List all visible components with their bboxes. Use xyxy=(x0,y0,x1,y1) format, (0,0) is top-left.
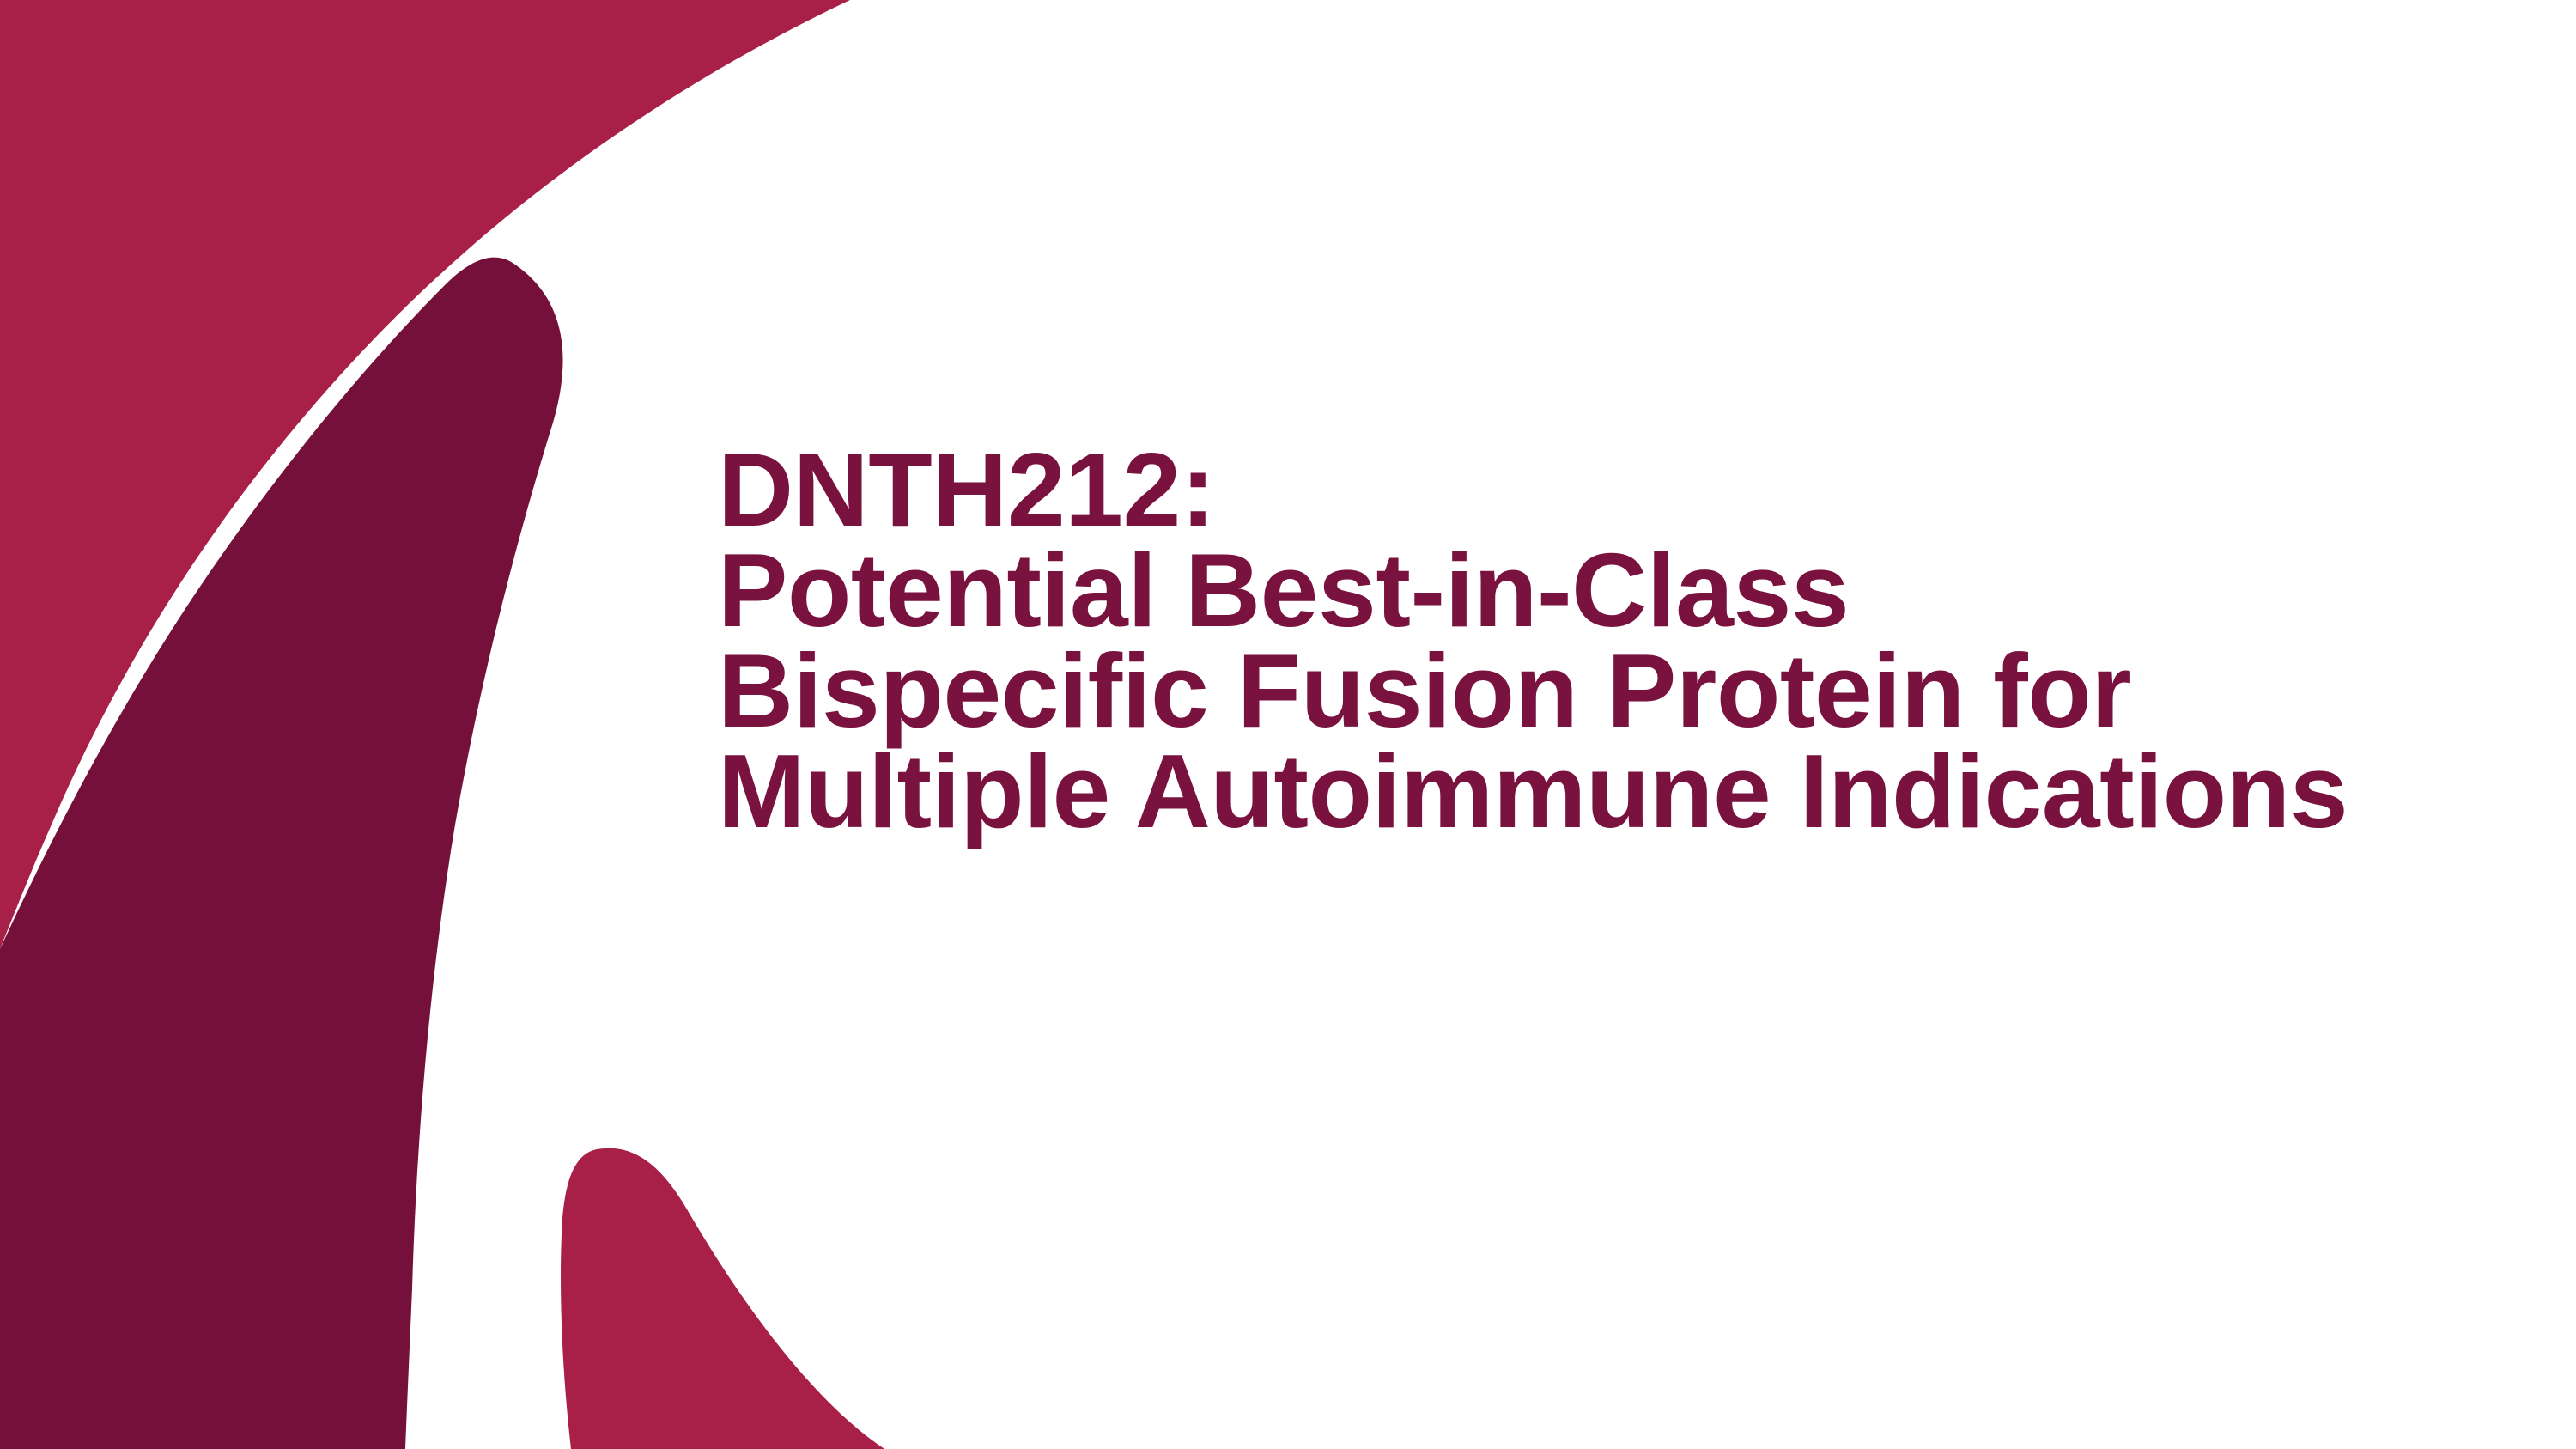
slide-title-block: DNTH212: Potential Best-in-Class Bispeci… xyxy=(718,440,2487,842)
crimson-teardrop-shape xyxy=(561,1148,884,1449)
slide-canvas: DNTH212: Potential Best-in-Class Bispeci… xyxy=(0,0,2576,1449)
title-line-2: Potential Best-in-Class xyxy=(718,540,2487,641)
title-line-1: DNTH212: xyxy=(718,440,2487,540)
title-line-4: Multiple Autoimmune Indications xyxy=(718,741,2487,842)
title-line-3: Bispecific Fusion Protein for xyxy=(718,641,2487,741)
